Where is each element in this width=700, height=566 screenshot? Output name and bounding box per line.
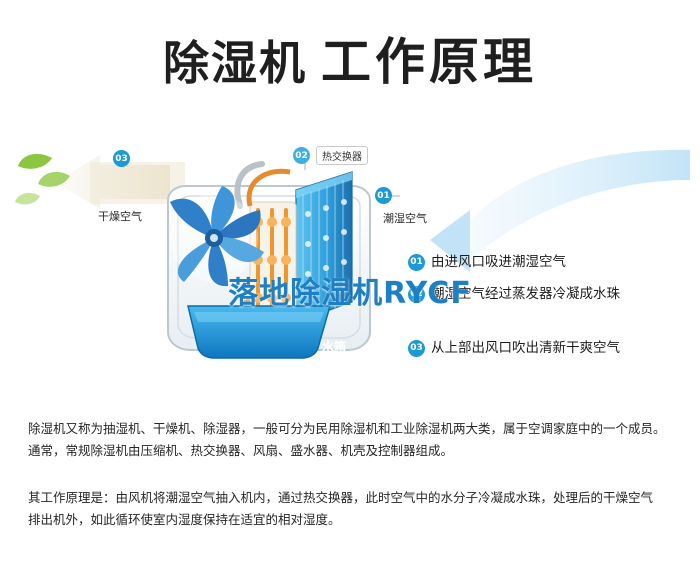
- badge-03-diagram: 03: [113, 150, 130, 167]
- page-title: 除湿机工作原理: [0, 22, 700, 94]
- step-3-number: 03: [408, 340, 425, 357]
- title-part-1: 除湿机: [163, 36, 307, 90]
- page-root: 除湿机工作原理: [0, 0, 700, 566]
- step-3-text: 从上部出风口吹出清新干爽空气: [431, 340, 620, 356]
- desc-p2-line-1: 其工作原理是：由风机将潮湿空气抽入机内，通过热交换器，此时空气中的水分子冷凝成水…: [28, 487, 674, 509]
- water-tank: [188, 306, 330, 358]
- desc-p1-line-1: 除湿机又称为抽湿机、干燥机、除湿器，一般可分为民用除湿机和工业除湿机两大类，属于…: [28, 418, 674, 440]
- description-paragraph-2: 其工作原理是：由风机将潮湿空气抽入机内，通过热交换器，此时空气中的水分子冷凝成水…: [28, 487, 674, 531]
- badge-02-diagram: 02: [293, 147, 310, 164]
- watermark-text: 落地除湿机RYCF: [0, 268, 700, 312]
- label-humid-air: 潮湿空气: [383, 210, 427, 226]
- dehumidifier-diagram: 03 干燥空气 02 热交换器 01 潮湿空气 水箱 01由进风口吸进潮湿空气 …: [0, 110, 700, 400]
- description-paragraph-1: 除湿机又称为抽湿机、干燥机、除湿器，一般可分为民用除湿机和工业除湿机两大类，属于…: [28, 418, 674, 462]
- desc-p2-line-2: 排出机外，如此循环使室内湿度保持在适宜的相对湿度。: [28, 509, 674, 531]
- humid-air-arrow: [470, 150, 690, 260]
- leaf-icon: [15, 154, 70, 205]
- label-dry-air: 干燥空气: [98, 208, 142, 224]
- title-part-2: 工作原理: [321, 33, 537, 91]
- badge-01-diagram: 01: [375, 187, 392, 204]
- label-water-tank: 水箱: [322, 338, 346, 355]
- desc-p1-line-2: 通常，常规除湿机由压缩机、热交换器、风扇、盛水器、机壳及控制器组成。: [28, 440, 674, 462]
- step-item-3: 03从上部出风口吹出清新干爽空气: [408, 336, 620, 357]
- label-heat-exchanger: 热交换器: [316, 146, 368, 165]
